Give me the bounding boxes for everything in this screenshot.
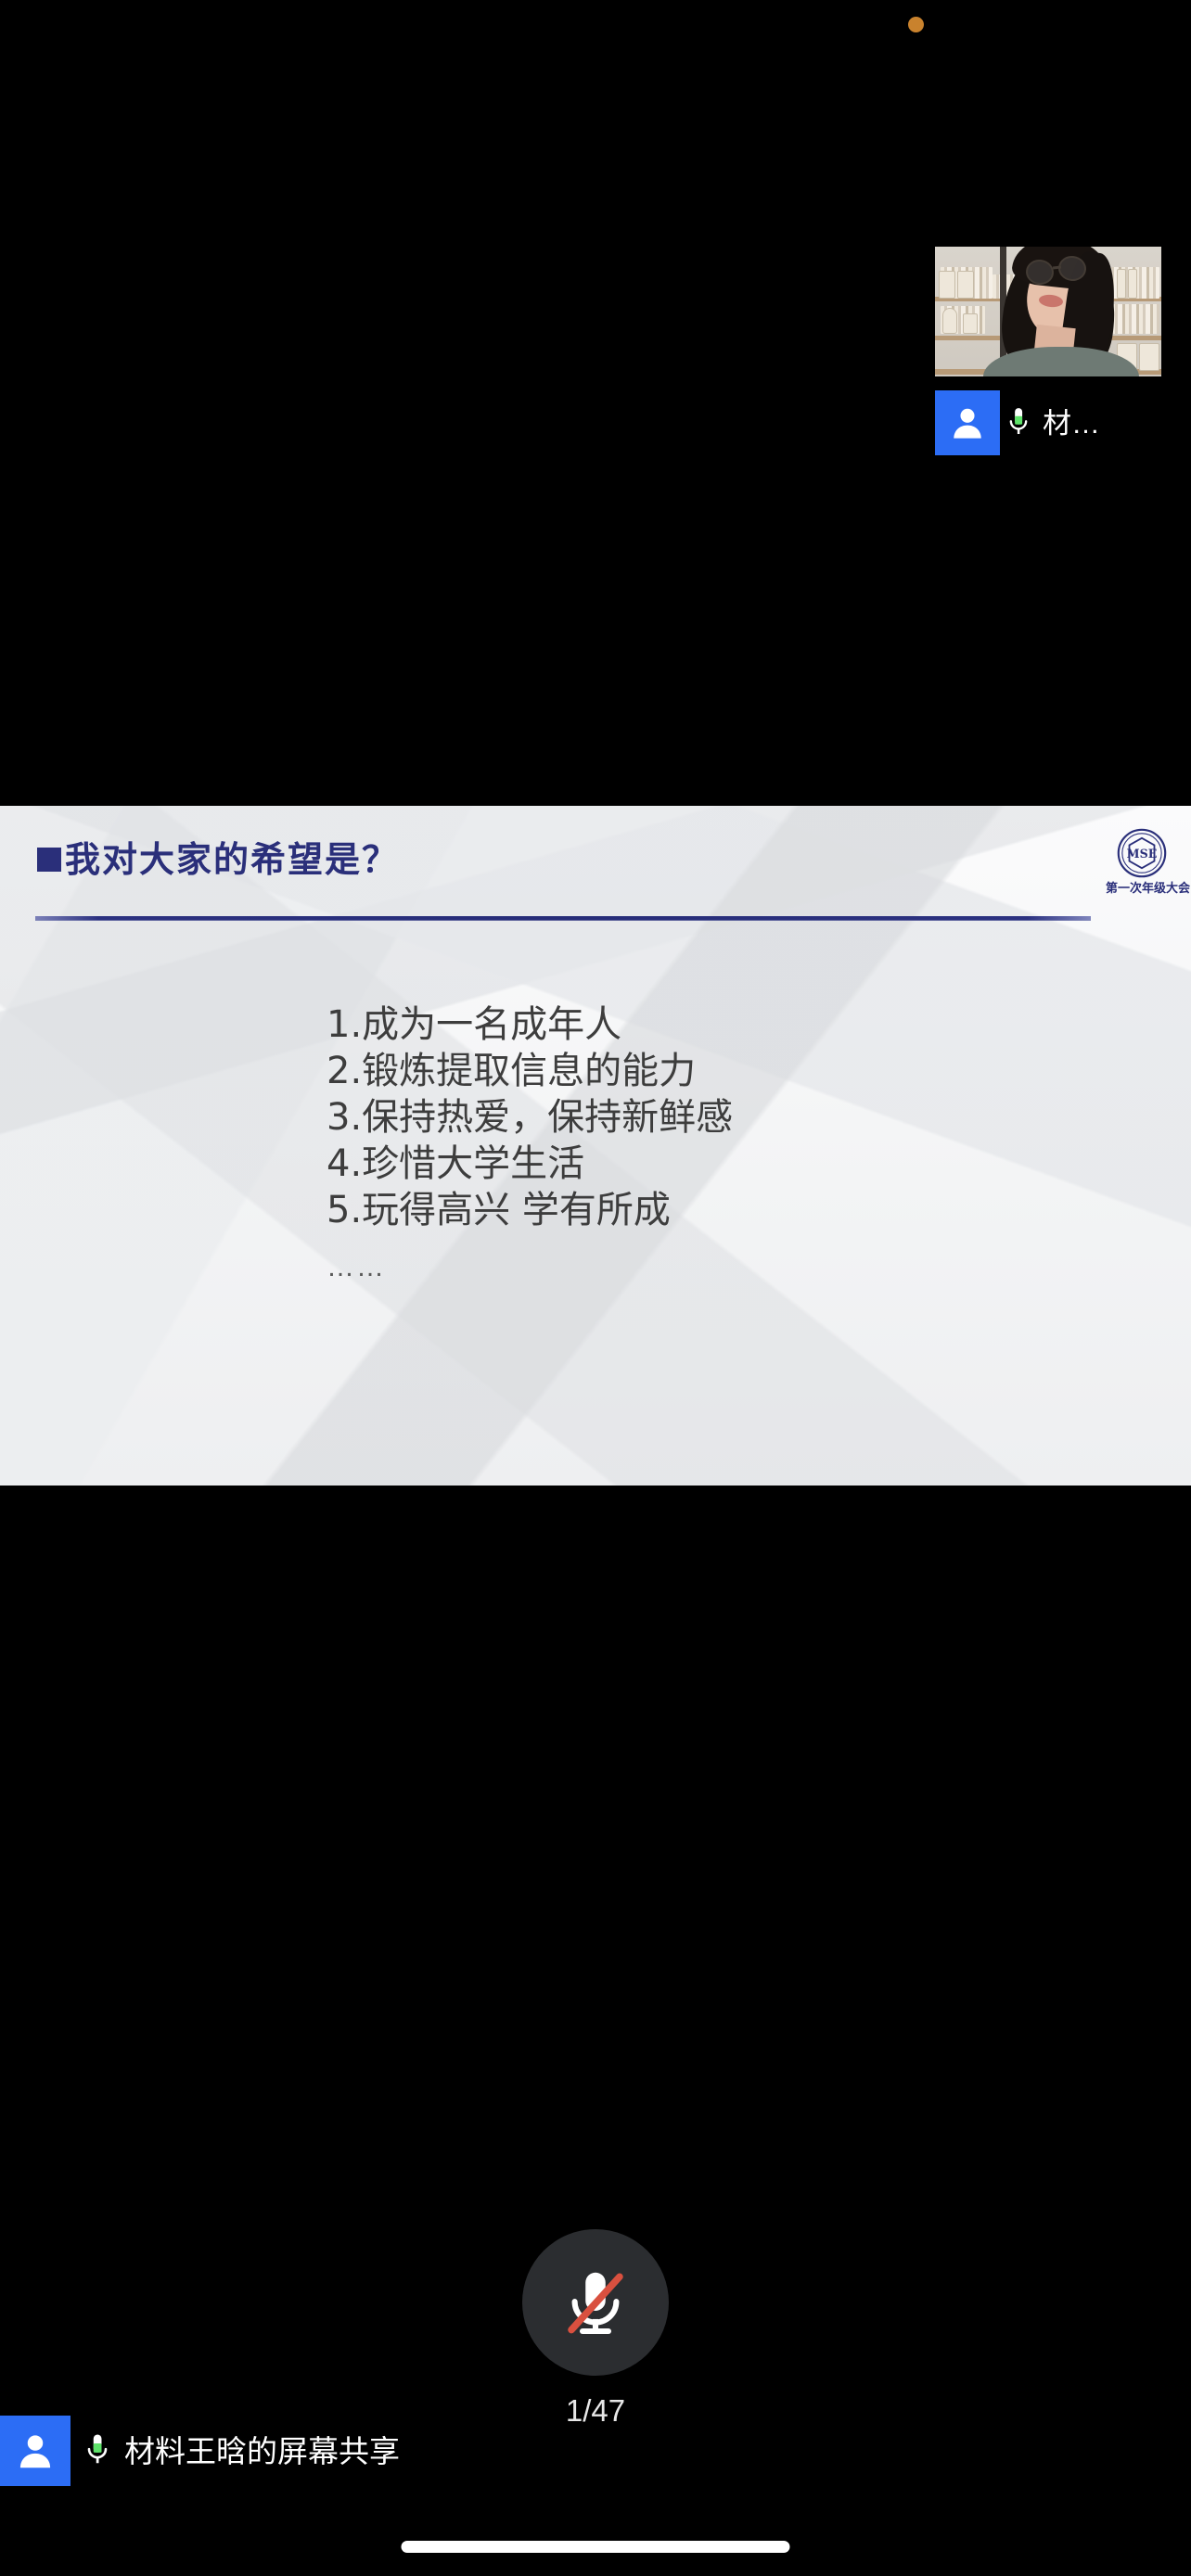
slide-logo-caption: 第一次年级大会 [1106, 882, 1178, 894]
video-tile-name-row: 材… [935, 390, 1161, 455]
home-indicator[interactable] [402, 2541, 790, 2553]
slide-body-line: 4.珍惜大学生活 [327, 1141, 733, 1187]
slide-body: 1.成为一名成年人 2.锻炼提取信息的能力 3.保持热爱，保持新鲜感 4.珍惜大… [327, 1001, 733, 1289]
slide-title-text: 我对大家的希望是？ [65, 842, 399, 877]
microphone-active-icon [1000, 407, 1037, 439]
slide-divider [35, 916, 1091, 921]
slide-body-line: 5.玩得高兴 学有所成 [327, 1187, 733, 1233]
slide-body-line: 3.保持热爱，保持新鲜感 [327, 1094, 733, 1141]
person-avatar-icon [0, 2416, 70, 2486]
privacy-indicator-dot [908, 17, 924, 32]
screen-share-status-bar: 材料王晗的屏幕共享 [0, 2416, 1191, 2486]
mse-emblem-icon: MSE [1117, 828, 1167, 878]
screen-share-label: 材料王晗的屏幕共享 [124, 2436, 400, 2467]
svg-text:MSE: MSE [1127, 847, 1158, 861]
video-tile-participant-label: 材… [1043, 409, 1100, 438]
slide-body-line: 1.成为一名成年人 [327, 1001, 733, 1048]
mute-microphone-button[interactable] [522, 2229, 669, 2376]
square-bullet-icon [37, 848, 61, 872]
person-avatar-icon [935, 390, 1000, 455]
slide-body-ellipsis: …… [327, 1246, 733, 1289]
slide-logo: MSE 第一次年级大会 [1106, 828, 1178, 894]
microphone-muted-icon [556, 2263, 635, 2342]
participant-video-tile[interactable] [935, 247, 1161, 376]
slide-body-line: 2.锻炼提取信息的能力 [327, 1048, 733, 1094]
microphone-active-icon [70, 2433, 124, 2468]
slide-title: 我对大家的希望是？ [37, 842, 399, 877]
